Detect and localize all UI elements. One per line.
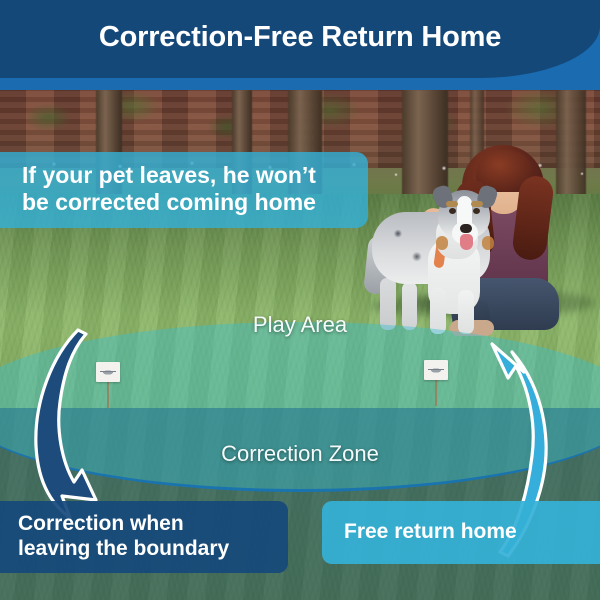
infographic-canvas: Play Area Correction Zone If your pet le… xyxy=(0,0,600,600)
brand-logo-icon xyxy=(428,367,444,374)
dog-eyebrow xyxy=(471,201,483,207)
dog-eye xyxy=(473,208,480,214)
callout-br-line-1: Free return home xyxy=(344,519,586,544)
dog-tan-marking xyxy=(436,236,448,250)
callout-top-line-2: be corrected coming home xyxy=(22,189,352,216)
brand-logo-icon xyxy=(100,369,116,376)
page-title: Correction-Free Return Home xyxy=(0,0,600,78)
correction-zone-label: Correction Zone xyxy=(0,441,600,467)
dog-eyebrow xyxy=(446,201,458,207)
callout-correction-when-leaving: Correction when leaving the boundary xyxy=(0,501,288,573)
callout-bl-line-1: Correction when xyxy=(18,511,274,536)
dog-eye xyxy=(449,208,456,214)
play-area-label: Play Area xyxy=(0,312,600,338)
callout-free-return-home: Free return home xyxy=(322,501,600,564)
flag-cloth xyxy=(96,362,120,382)
callout-top-message: If your pet leaves, he won’t be correcte… xyxy=(0,152,368,228)
dog-tan-marking xyxy=(482,236,494,250)
callout-bl-line-2: leaving the boundary xyxy=(18,536,274,561)
dog-nose xyxy=(460,224,472,233)
callout-top-line-1: If your pet leaves, he won’t xyxy=(22,162,352,189)
flag-cloth xyxy=(424,360,448,380)
dog-tongue xyxy=(460,234,473,250)
